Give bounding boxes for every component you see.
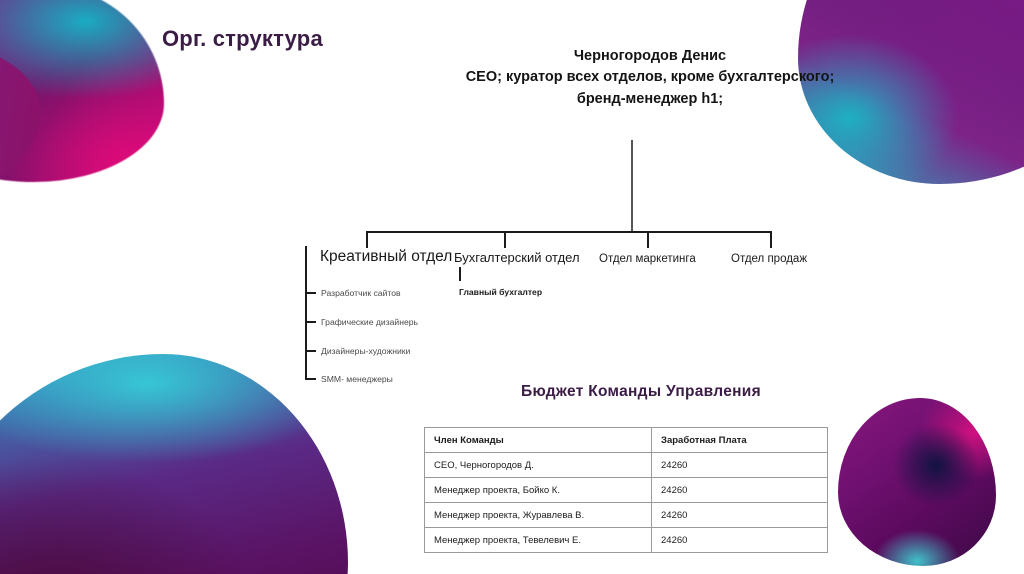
cell-salary: 24260 bbox=[652, 528, 828, 553]
bottom-right-blob bbox=[838, 398, 996, 566]
department-label-accounting: Бухгалтерский отдел bbox=[454, 251, 580, 264]
top-left-blob bbox=[0, 0, 164, 182]
cell-member: CEO, Черногородов Д. bbox=[425, 453, 652, 478]
cell-salary: 24260 bbox=[652, 478, 828, 503]
table-row: Менеджер проекта, Бойко К. 24260 bbox=[425, 478, 828, 503]
cell-member: Менеджер проекта, Журавлева В. bbox=[425, 503, 652, 528]
creative-branch-tick bbox=[305, 378, 316, 380]
budget-section-title: Бюджет Команды Управления bbox=[521, 383, 761, 401]
table-row: Менеджер проекта, Журавлева В. 24260 bbox=[425, 503, 828, 528]
creative-role-item: Разработчик сайтов bbox=[321, 289, 401, 298]
department-connector-bar bbox=[366, 231, 772, 233]
table-row: CEO, Черногородов Д. 24260 bbox=[425, 453, 828, 478]
creative-branch-tick bbox=[305, 350, 316, 352]
ceo-node: Черногородов Денис CEO; куратор всех отд… bbox=[400, 46, 900, 110]
budget-table-body: CEO, Черногородов Д. 24260 Менеджер прое… bbox=[425, 453, 828, 553]
creative-branch-spine bbox=[305, 246, 307, 379]
ceo-name: Черногородов Денис bbox=[400, 46, 900, 67]
creative-branch-tick bbox=[305, 292, 316, 294]
department-stem-sales bbox=[770, 233, 772, 248]
department-label-sales: Отдел продаж bbox=[731, 254, 807, 266]
budget-table-head: Член Команды Заработная Плата bbox=[425, 428, 828, 453]
cell-salary: 24260 bbox=[652, 453, 828, 478]
department-stem-accounting bbox=[504, 233, 506, 248]
accounting-branch-stem bbox=[459, 267, 461, 281]
department-label-marketing: Отдел маркетинга bbox=[599, 254, 696, 266]
creative-role-item: Дизайнеры-художники bbox=[321, 347, 410, 356]
column-header-member: Член Команды bbox=[425, 428, 652, 453]
cell-salary: 24260 bbox=[652, 503, 828, 528]
department-stem-marketing bbox=[647, 233, 649, 248]
bottom-left-blob bbox=[0, 354, 348, 574]
cell-member: Менеджер проекта, Бойко К. bbox=[425, 478, 652, 503]
table-row: Менеджер проекта, Тевелевич Е. 24260 bbox=[425, 528, 828, 553]
ceo-role-line-2: бренд-менеджер h1; bbox=[400, 89, 900, 110]
department-label-creative: Креативный отдел bbox=[320, 249, 452, 265]
budget-table: Член Команды Заработная Плата CEO, Черно… bbox=[424, 427, 828, 553]
creative-branch-tick bbox=[305, 321, 316, 323]
cell-member: Менеджер проекта, Тевелевич Е. bbox=[425, 528, 652, 553]
accounting-role-item: Главный бухгалтер bbox=[459, 288, 542, 297]
creative-role-item: SMM- менеджеры bbox=[321, 375, 393, 384]
table-header-row: Член Команды Заработная Плата bbox=[425, 428, 828, 453]
column-header-salary: Заработная Плата bbox=[652, 428, 828, 453]
ceo-role-line-1: CEO; куратор всех отделов, кроме бухгалт… bbox=[400, 67, 900, 88]
department-stem-creative bbox=[366, 233, 368, 248]
creative-role-item: Графические дизайнерь bbox=[321, 318, 418, 327]
slide-canvas: Орг. структура Черногородов Денис CEO; к… bbox=[0, 0, 1024, 574]
page-title: Орг. структура bbox=[162, 26, 323, 52]
ceo-connector-stem bbox=[631, 140, 633, 232]
top-left-blob-tail bbox=[0, 44, 40, 194]
